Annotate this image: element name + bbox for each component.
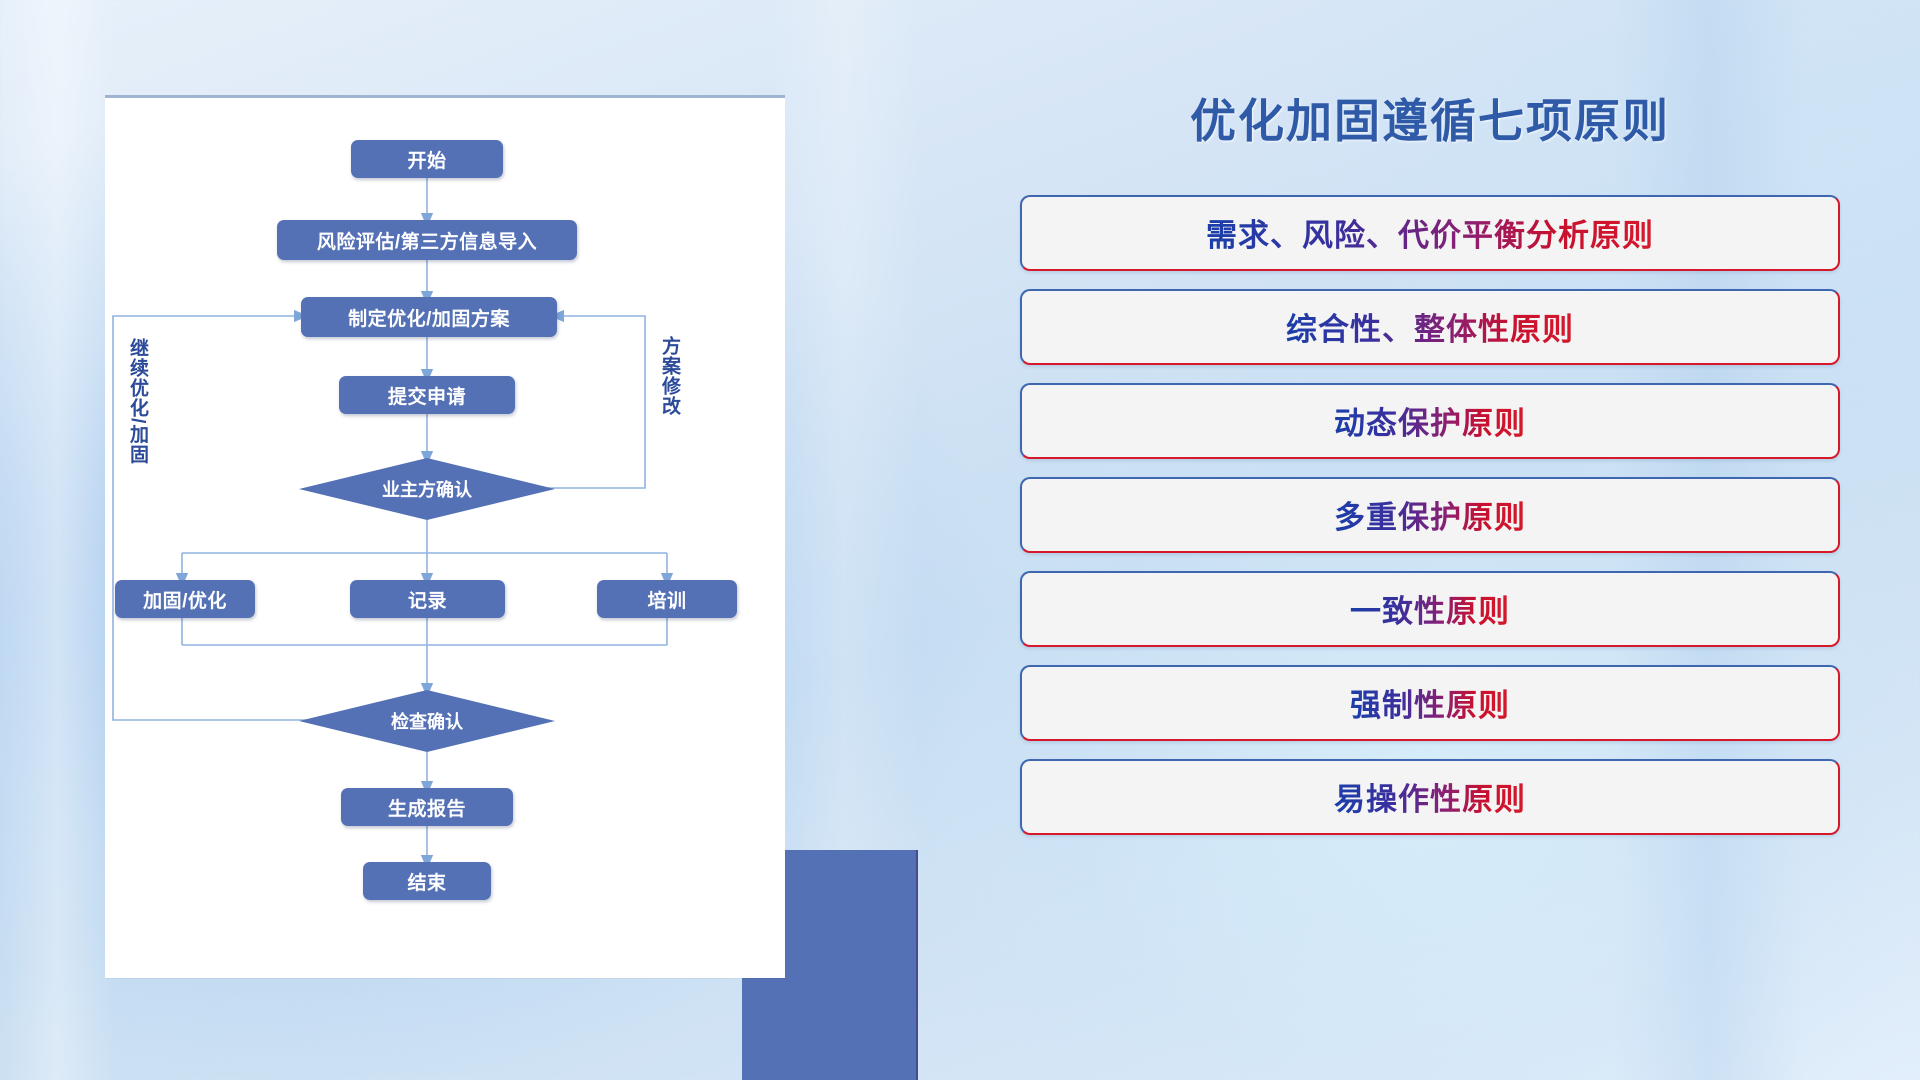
principle-item-2[interactable]: 综合性、整体性原则 [1020, 289, 1840, 365]
principle-label: 一致性原则 [1350, 586, 1510, 631]
principle-item-5[interactable]: 一致性原则 [1020, 571, 1840, 647]
principle-label: 多重保护原则 [1334, 492, 1526, 537]
flow-node-generate-report[interactable]: 生成报告 [341, 788, 513, 826]
principle-item-1[interactable]: 需求、风险、代价平衡分析原则 [1020, 195, 1840, 271]
principle-label: 易操作性原则 [1334, 774, 1526, 819]
principle-item-4[interactable]: 多重保护原则 [1020, 477, 1840, 553]
flow-node-submit-application[interactable]: 提交申请 [339, 376, 515, 414]
flowchart-region: 开始 风险评估/第三方信息导入 制定优化/加固方案 提交申请 业主方确认 加固/… [105, 95, 785, 995]
flow-node-record[interactable]: 记录 [350, 580, 505, 618]
flow-node-label: 结束 [407, 868, 446, 895]
flow-edge-label-plan-revision: 方案修改 [659, 336, 679, 416]
flow-node-end[interactable]: 结束 [363, 862, 491, 900]
flow-node-label: 开始 [407, 146, 446, 173]
principles-panel: 优化加固遵循七项原则 需求、风险、代价平衡分析原则 综合性、整体性原则 动态保护… [1020, 96, 1840, 1016]
flow-node-label: 生成报告 [388, 794, 466, 821]
page-title: 优化加固遵循七项原则 [1020, 96, 1840, 147]
principle-label: 综合性、整体性原则 [1286, 304, 1574, 349]
flow-node-label: 提交申请 [388, 382, 466, 409]
flow-node-start[interactable]: 开始 [351, 140, 503, 178]
flow-node-label: 制定优化/加固方案 [348, 304, 510, 331]
flow-node-reinforce[interactable]: 加固/优化 [115, 580, 255, 618]
flow-node-plan[interactable]: 制定优化/加固方案 [301, 297, 557, 337]
flowchart-card: 开始 风险评估/第三方信息导入 制定优化/加固方案 提交申请 业主方确认 加固/… [105, 95, 785, 978]
flow-node-label: 检查确认 [391, 708, 463, 734]
principle-item-6[interactable]: 强制性原则 [1020, 665, 1840, 741]
principle-item-3[interactable]: 动态保护原则 [1020, 383, 1840, 459]
flow-node-training[interactable]: 培训 [597, 580, 737, 618]
flow-node-risk-assessment[interactable]: 风险评估/第三方信息导入 [277, 220, 577, 260]
flow-edge-label-continue-optimize: 继续优化/加固 [127, 338, 147, 464]
principle-label: 动态保护原则 [1334, 398, 1526, 443]
principle-label: 需求、风险、代价平衡分析原则 [1206, 210, 1654, 255]
flow-node-label: 培训 [647, 586, 686, 613]
principle-label: 强制性原则 [1350, 680, 1510, 725]
principle-item-7[interactable]: 易操作性原则 [1020, 759, 1840, 835]
flow-node-label: 加固/优化 [143, 586, 227, 613]
flow-node-label: 记录 [408, 586, 447, 613]
flow-node-label: 业主方确认 [382, 476, 472, 502]
flow-node-label: 风险评估/第三方信息导入 [317, 227, 537, 254]
